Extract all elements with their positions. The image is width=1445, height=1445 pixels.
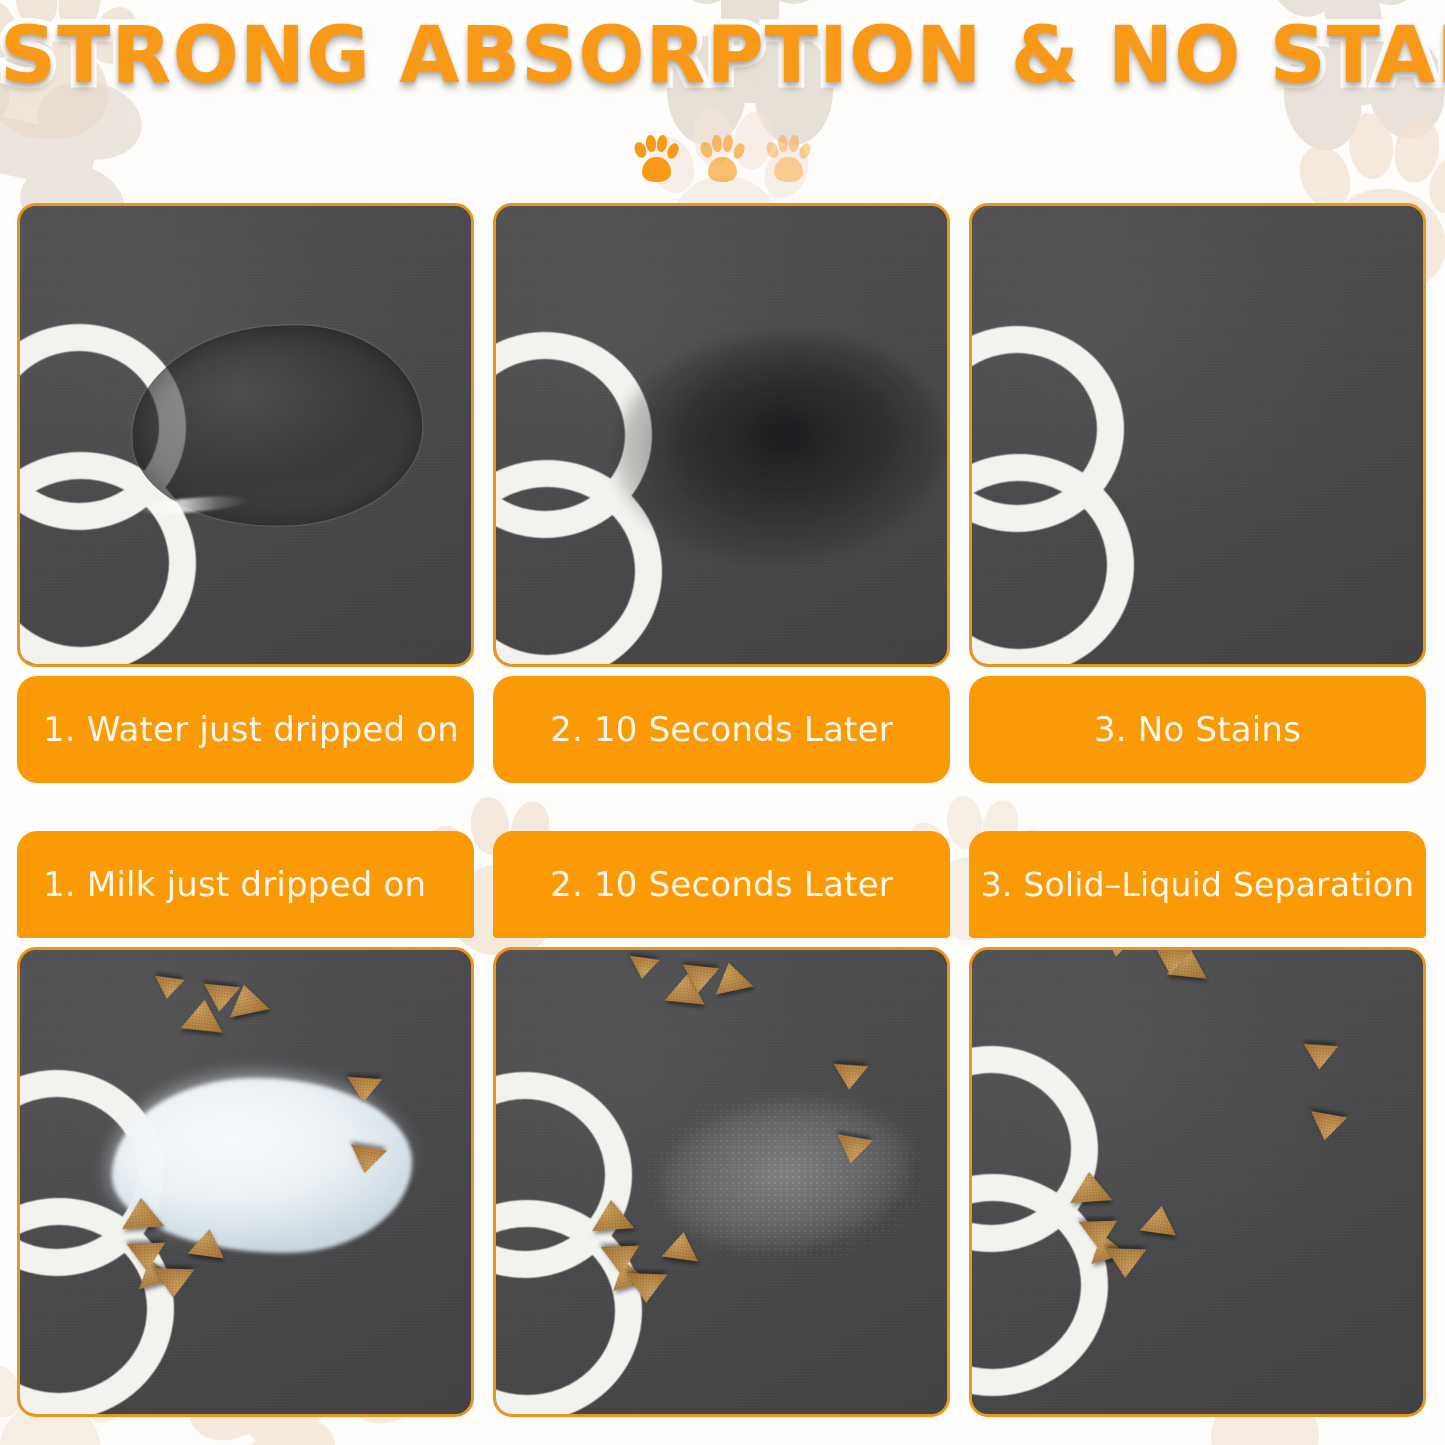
water-step-2-card: 2. 10 Seconds Later xyxy=(493,203,950,783)
water-step-1-photo xyxy=(17,203,474,667)
paw-divider xyxy=(0,134,1445,182)
milk-step-2-card: 2. 10 Seconds Later xyxy=(493,831,950,1417)
infographic-page: STRONG ABSORPTION & NO STAINS xyxy=(0,0,1445,1445)
page-title: STRONG ABSORPTION & NO STAINS xyxy=(0,14,1445,98)
milk-test-row: 1. Milk just dripped on xyxy=(17,831,1428,1417)
milk-step-3-caption: 3. Solid–Liquid Separation xyxy=(969,831,1426,938)
milk-step-3-photo xyxy=(969,947,1426,1417)
mat-logo-mark xyxy=(969,1046,1064,1346)
water-step-3-photo xyxy=(969,203,1426,667)
paw-print-icon xyxy=(635,134,679,182)
milk-step-1-photo xyxy=(17,947,474,1417)
water-step-1-caption: 1. Water just dripped on xyxy=(17,676,474,783)
milk-residue-speckle xyxy=(646,1090,926,1265)
paw-print-icon xyxy=(701,134,745,182)
milk-step-3-card: 3. Solid–Liquid Separation xyxy=(969,831,1426,1417)
milk-step-1-card: 1. Milk just dripped on xyxy=(17,831,474,1417)
water-step-2-photo xyxy=(493,203,950,667)
water-test-row: 1. Water just dripped on 2. 10 Seconds L… xyxy=(17,203,1428,783)
water-step-2-caption: 2. 10 Seconds Later xyxy=(493,676,950,783)
damp-core xyxy=(666,356,896,506)
milk-step-2-caption: 2. 10 Seconds Later xyxy=(493,831,950,938)
water-step-1-card: 1. Water just dripped on xyxy=(17,203,474,783)
mat-logo-mark xyxy=(493,1072,598,1372)
mat-logo-mark xyxy=(17,324,152,624)
milk-step-2-photo xyxy=(493,947,950,1417)
paw-print-icon xyxy=(767,134,811,182)
milk-step-1-caption: 1. Milk just dripped on xyxy=(17,831,474,938)
title-block: STRONG ABSORPTION & NO STAINS xyxy=(0,14,1445,98)
mat-logo-mark xyxy=(17,1070,130,1370)
water-step-3-caption: 3. No Stains xyxy=(969,676,1426,783)
water-step-3-card: 3. No Stains xyxy=(969,203,1426,783)
mat-logo-mark xyxy=(493,332,618,632)
mat-logo-mark xyxy=(969,326,1090,626)
comparison-grid: 1. Water just dripped on 2. 10 Seconds L… xyxy=(17,203,1428,1417)
